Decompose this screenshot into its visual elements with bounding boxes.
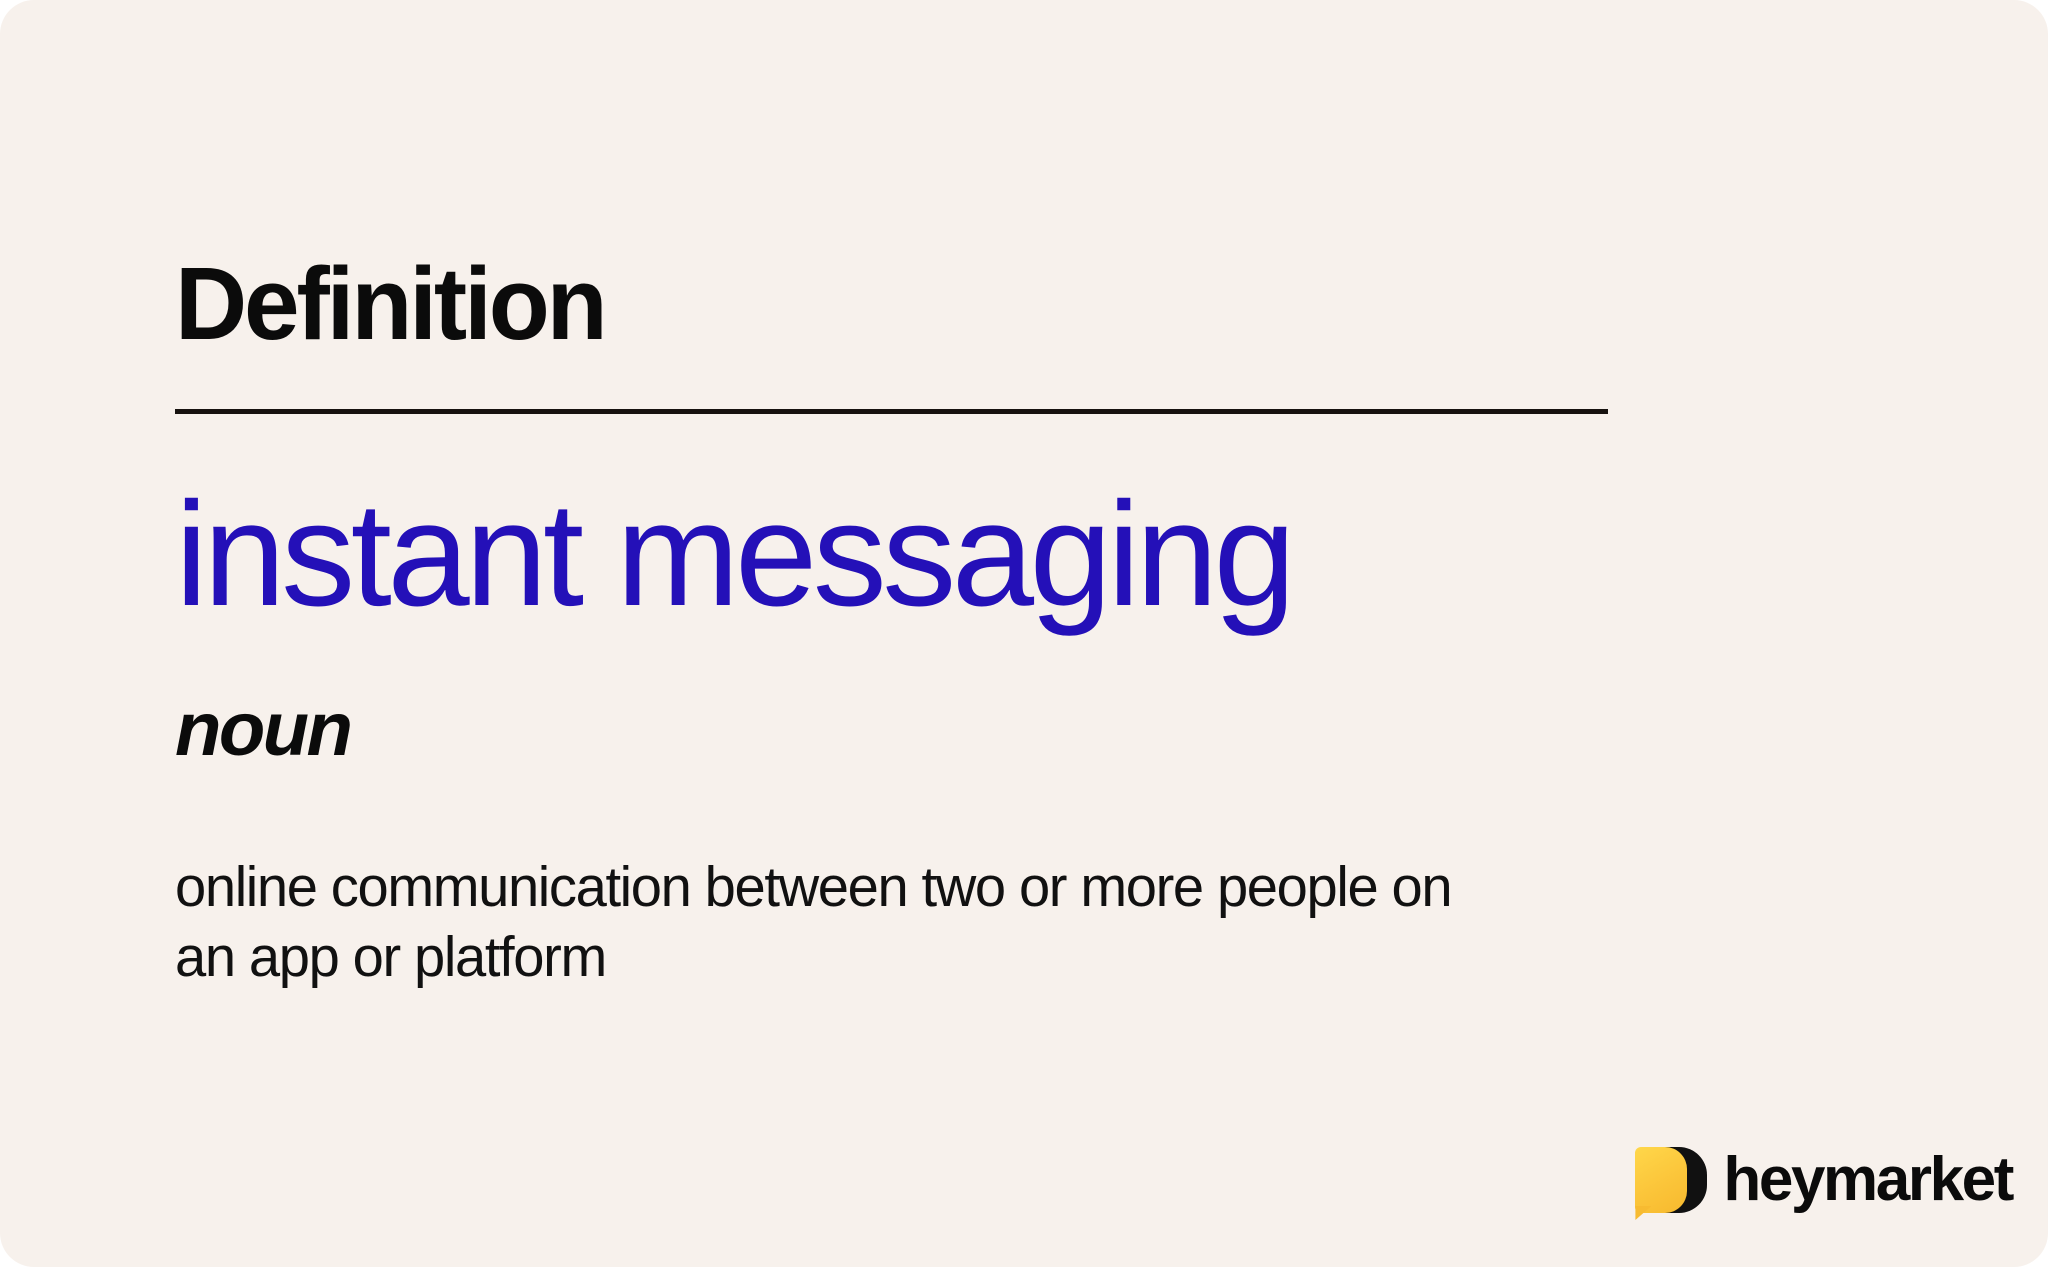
brand-lockup: heymarket — [1635, 1141, 2012, 1219]
title-divider — [175, 409, 1608, 414]
term-heading: instant messaging — [175, 481, 1291, 629]
definition-text: online communication between two or more… — [175, 853, 1712, 992]
definition-line-2: an app or platform — [175, 923, 1712, 993]
definition-line-1: online communication between two or more… — [175, 853, 1712, 923]
page-title: Definition — [175, 252, 605, 355]
definition-card: Definition instant messaging noun online… — [0, 0, 2048, 1267]
speech-bubble-icon — [1635, 1147, 1707, 1213]
card-content: Definition instant messaging noun online… — [175, 0, 1975, 1267]
part-of-speech-label: noun — [175, 692, 350, 768]
brand-name: heymarket — [1723, 1149, 2012, 1211]
